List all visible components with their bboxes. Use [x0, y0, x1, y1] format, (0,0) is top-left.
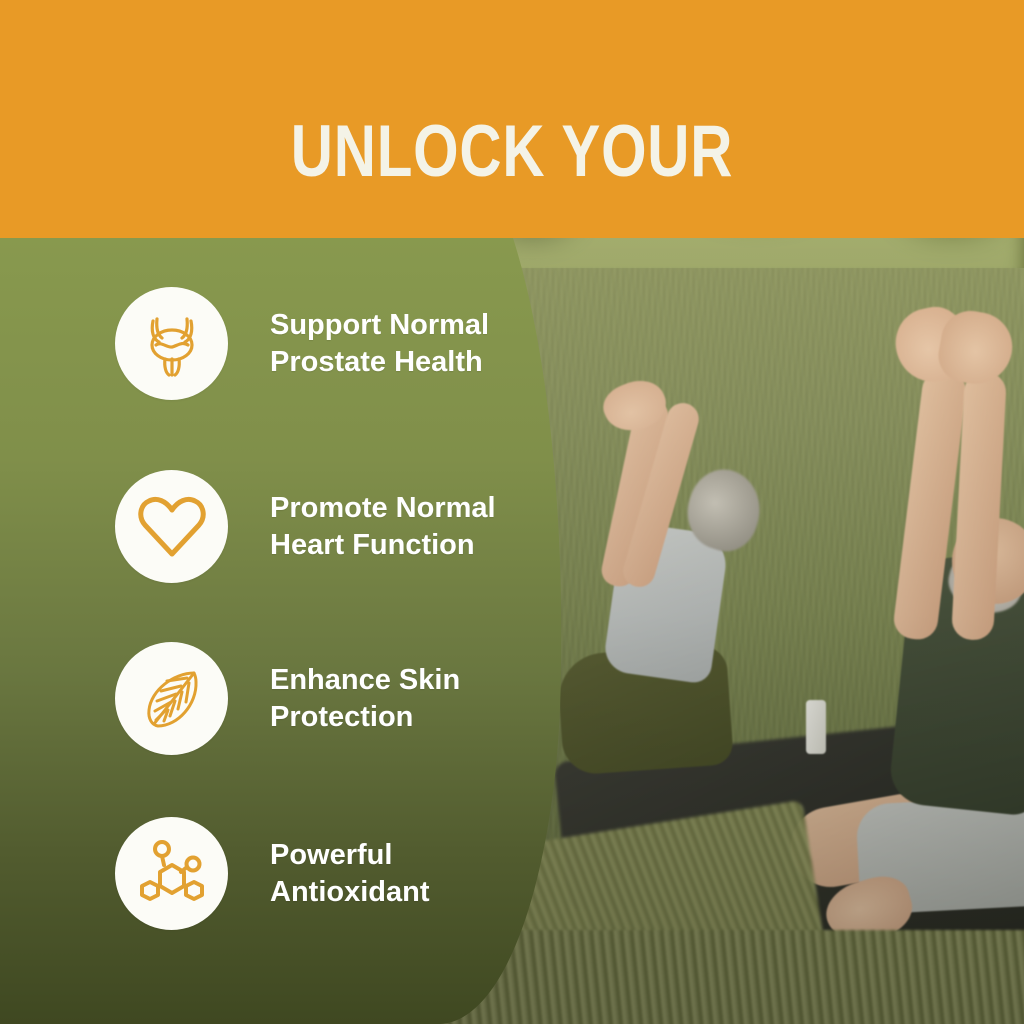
benefit-label-antioxidant: Powerful Antioxidant: [270, 837, 430, 911]
benefit-label-prostate: Support Normal Prostate Health: [270, 307, 489, 381]
water-bottle: [806, 700, 826, 754]
benefit-item-heart: Promote Normal Heart Function: [115, 470, 496, 583]
headline-line-1: UNLOCK YOUR: [102, 116, 921, 188]
promo-graphic: UNLOCK YOUR WELLNESS NATURALLY: [0, 0, 1024, 1024]
page-title: UNLOCK YOUR WELLNESS NATURALLY: [0, 44, 1024, 238]
molecule-icon: [115, 817, 228, 930]
heart-icon: [115, 470, 228, 583]
leaf-icon: [115, 642, 228, 755]
benefits-list: Support Normal Prostate Health Promote N…: [0, 238, 560, 1024]
benefit-item-antioxidant: Powerful Antioxidant: [115, 817, 430, 930]
benefit-label-skin: Enhance Skin Protection: [270, 662, 460, 736]
benefit-item-skin: Enhance Skin Protection: [115, 642, 460, 755]
benefit-label-heart: Promote Normal Heart Function: [270, 490, 496, 564]
header-banner: UNLOCK YOUR WELLNESS NATURALLY: [0, 0, 1024, 238]
benefit-item-prostate: Support Normal Prostate Health: [115, 287, 489, 400]
prostate-bladder-icon: [115, 287, 228, 400]
